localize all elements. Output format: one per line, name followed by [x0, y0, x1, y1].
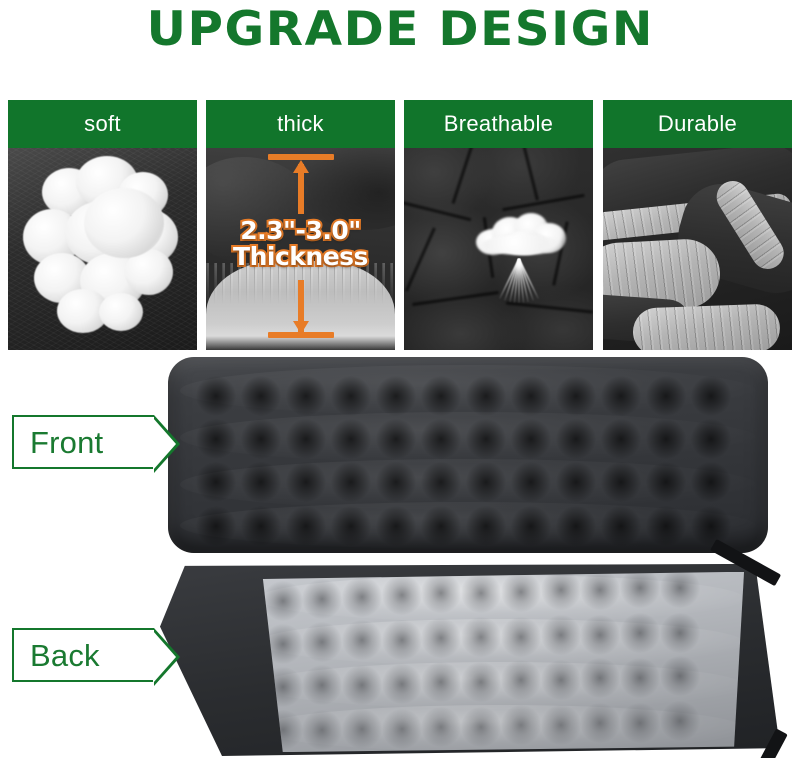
- back-tufting: [253, 572, 749, 752]
- chevron-right-icon: [154, 415, 180, 473]
- feature-label-soft: soft: [84, 113, 121, 135]
- thickness-dimension-icon: 2.3"-3.0" Thickness: [206, 148, 395, 350]
- dimension-arrow-top: [268, 154, 334, 214]
- thickness-callout: 2.3"-3.0" Thickness: [206, 218, 395, 270]
- feature-panel-soft: soft: [8, 100, 197, 350]
- feature-label-durable: Durable: [658, 113, 737, 135]
- label-back-text: Back: [30, 640, 100, 671]
- front-mattress: [168, 357, 768, 553]
- airflow-rays: [487, 259, 549, 305]
- feature-label-breathable: Breathable: [444, 113, 553, 135]
- thickness-word: Thickness: [206, 244, 395, 270]
- feature-panel-durable: Durable: [603, 100, 792, 350]
- feature-banner-breathable: Breathable: [404, 100, 593, 148]
- product-image-back: [160, 560, 780, 756]
- label-back: Back: [12, 628, 154, 682]
- feature-banner-thick: thick: [206, 100, 395, 148]
- chevron-right-icon: [154, 628, 180, 686]
- feature-panel-row: soft thick: [8, 100, 792, 350]
- cloud-airflow-icon: [404, 148, 593, 350]
- back-mattress: [160, 560, 780, 756]
- infographic-page: UPGRADE DESIGN soft: [0, 0, 800, 758]
- label-front-text: Front: [30, 427, 103, 458]
- page-title: UPGRADE DESIGN: [0, 0, 800, 58]
- label-front: Front: [12, 415, 154, 469]
- folded-cushion-icon: [603, 148, 792, 350]
- front-tufting: [168, 357, 768, 553]
- thickness-value: 2.3"-3.0": [206, 218, 395, 244]
- fiber-fill-icon: [8, 148, 197, 350]
- feature-banner-durable: Durable: [603, 100, 792, 148]
- dimension-arrow-bottom: [268, 276, 334, 338]
- feature-label-thick: thick: [277, 113, 324, 135]
- product-image-front: [168, 357, 768, 553]
- feature-banner-soft: soft: [8, 100, 197, 148]
- page-title-text: UPGRADE DESIGN: [146, 6, 653, 53]
- feature-panel-breathable: Breathable: [404, 100, 593, 350]
- cloud-icon: [476, 213, 568, 255]
- feature-panel-thick: thick 2.3"-3.0": [206, 100, 395, 350]
